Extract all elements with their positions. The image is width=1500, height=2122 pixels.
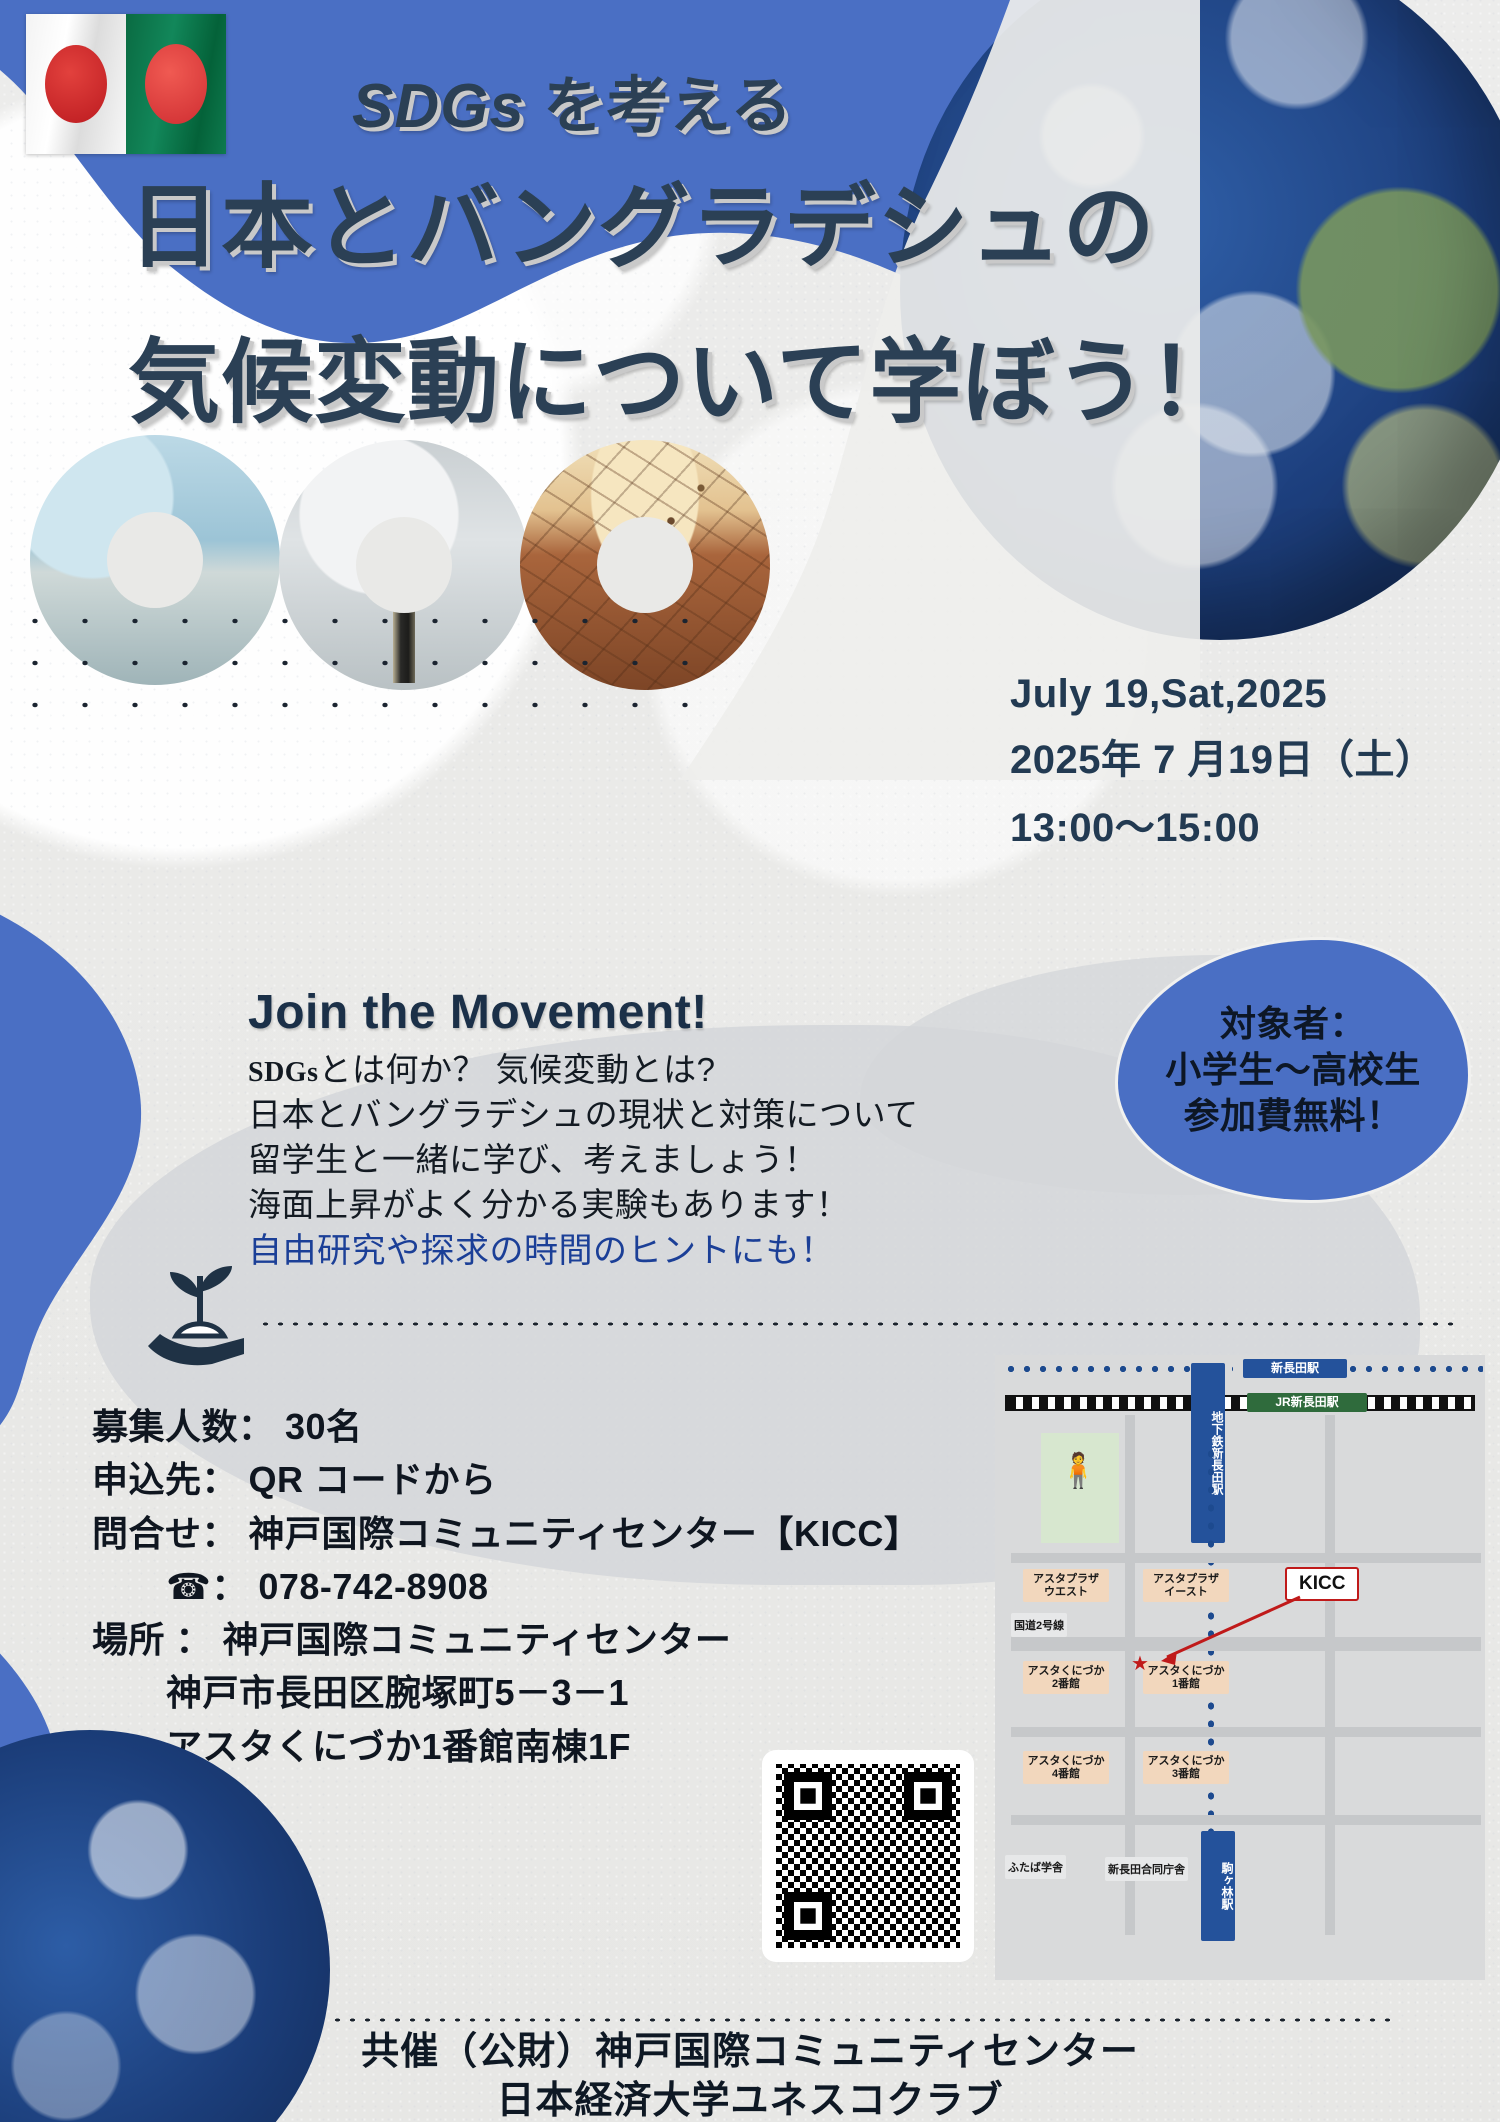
join-line-2: 日本とバングラデシュの現状と対策について — [248, 1093, 919, 1138]
title-line-2: 日本とバングラデシュの — [128, 153, 1500, 286]
info-row-venue: 場所 ： 神戸国際コミュニティセンター — [92, 1613, 920, 1666]
dashed-divider-bottom — [330, 2016, 1395, 2024]
map-railway — [1005, 1395, 1475, 1411]
event-info-list: 募集人数： 30名 申込先： QR コードから 問合せ： 神戸国際コミュニティセ… — [92, 1400, 920, 1773]
info-row-capacity: 募集人数： 30名 — [92, 1400, 920, 1453]
info-row-address: 神戸市長田区腕塚町5－3－1 — [92, 1666, 920, 1719]
footer-line-2: 日本経済大学ユネスコクラブ — [0, 2077, 1500, 2122]
info-row-phone[interactable]: ☎： 078-742-8908 — [92, 1560, 920, 1613]
plant-in-hand-icon — [140, 1258, 260, 1368]
join-sdgs-label: SDGs — [248, 1057, 318, 1088]
map-label-asta-3: アスタくにづか3番館 — [1143, 1751, 1229, 1784]
title-line-1-rest: を考える — [525, 72, 793, 141]
title-line-1: SDGs を考える — [352, 55, 1500, 145]
application-qr-code[interactable] — [762, 1750, 974, 1962]
map-station-shinnagata: 新長田駅 — [1243, 1359, 1347, 1378]
map-road-horizontal-4 — [1011, 1815, 1481, 1825]
footer-organizers: 共催（公財）神戸国際コミュニティセンター 日本経済大学ユネスコクラブ — [0, 2028, 1500, 2122]
map-road-horizontal-3 — [1011, 1727, 1481, 1737]
date-english: July 19,Sat,2025 — [1010, 672, 1440, 717]
map-statue-icon: 🧍 — [1057, 1451, 1099, 1491]
join-line-4: 海面上昇がよく分かる実験もあります！ — [248, 1183, 919, 1228]
map-label-goudou-chousha: 新長田合同庁舎 — [1105, 1857, 1188, 1881]
dot-pattern-band — [10, 600, 730, 730]
join-line-3: 留学生と一緒に学び、考えましょう！ — [248, 1138, 919, 1183]
map-label-asta-plaza-west: アスタプラザウエスト — [1023, 1569, 1109, 1602]
map-star-marker: ★ — [1131, 1651, 1149, 1676]
access-map: 地下鉄新長田駅 新長田駅 JR新長田駅 🧍 国道2号線 アスタプラザウエスト ア… — [995, 1355, 1485, 1980]
info-row-contact: 問合せ： 神戸国際コミュニティセンター【KICC】 — [92, 1507, 920, 1560]
target-line-2: 小学生〜高校生 — [1165, 1047, 1421, 1093]
join-heading: Join the Movement! — [248, 985, 919, 1040]
title-group: SDGs を考える 日本とバングラデシュの 気候変動について学ぼう！ — [0, 55, 1500, 441]
target-line-3: 参加費無料！ — [1183, 1093, 1402, 1139]
event-time: 13:00〜15:00 — [1010, 795, 1440, 853]
map-label-route2: 国道2号線 — [1011, 1613, 1067, 1637]
map-label-asta-4: アスタくにづか4番館 — [1023, 1751, 1109, 1784]
map-station-komagabayashi: 駒ヶ林駅 — [1201, 1831, 1235, 1941]
poster-root: SDGs を考える 日本とバングラデシュの 気候変動について学ぼう！ July … — [0, 0, 1500, 2122]
map-road-horizontal-1 — [1011, 1553, 1481, 1563]
map-label-asta-2: アスタくにづか2番館 — [1023, 1661, 1109, 1694]
map-road-vertical-2 — [1325, 1415, 1335, 1935]
title-sdgs: SDGs — [352, 72, 525, 141]
dashed-divider-top — [258, 1320, 1458, 1328]
footer-line-1: 共催（公財）神戸国際コミュニティセンター — [0, 2028, 1500, 2077]
join-line-5-highlight: 自由研究や探求の時間のヒントにも！ — [248, 1228, 919, 1274]
date-japanese: 2025年 7 月19日（土） — [1010, 727, 1440, 785]
info-row-apply: 申込先： QR コードから — [92, 1453, 920, 1506]
map-callout-arrow-icon — [1155, 1591, 1305, 1671]
join-line-1: SDGsとは何か？ 気候変動とは? — [248, 1048, 919, 1093]
event-date-block: July 19,Sat,2025 2025年 7 月19日（土） 13:00〜1… — [1010, 672, 1440, 863]
join-movement-block: Join the Movement! SDGsとは何か？ 気候変動とは? 日本と… — [248, 985, 919, 1274]
title-line-3: 気候変動について学ぼう！ — [128, 308, 1500, 441]
join-line-1-rest: とは何か？ 気候変動とは? — [318, 1051, 715, 1088]
map-station-jr-shinnagata: JR新長田駅 — [1247, 1393, 1367, 1412]
target-line-1: 対象者： — [1220, 1001, 1366, 1047]
map-label-futaba-gakusha: ふたば学舎 — [1005, 1855, 1066, 1879]
